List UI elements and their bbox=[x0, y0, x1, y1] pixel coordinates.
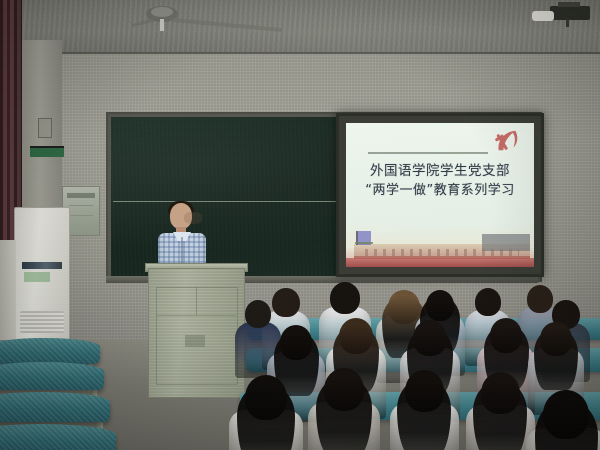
slide-title-line1: 外国语学院学生党支部 bbox=[346, 161, 534, 181]
slide-gray-block bbox=[482, 234, 530, 251]
ac-brand-strip bbox=[22, 262, 62, 269]
student-head bbox=[330, 282, 360, 314]
presenter-head bbox=[170, 203, 192, 229]
desk-row-3 bbox=[0, 392, 110, 422]
student-head bbox=[475, 288, 501, 316]
desk-row-4 bbox=[0, 424, 116, 450]
student-front-row-4 bbox=[481, 372, 520, 450]
student-front-row-2 bbox=[324, 368, 364, 450]
wall-ceiling-seam bbox=[0, 52, 600, 54]
student-long-hair bbox=[534, 328, 577, 390]
air-conditioner-unit bbox=[14, 207, 70, 342]
ac-vent-grille bbox=[20, 311, 64, 333]
slide-divider-rule bbox=[368, 152, 488, 154]
student-front-row-1 bbox=[245, 375, 287, 450]
podium-marking bbox=[185, 335, 205, 347]
desk-row-1 bbox=[0, 338, 100, 364]
green-wall-sign bbox=[30, 146, 64, 157]
ac-sticker bbox=[24, 272, 50, 282]
student-front-row-5 bbox=[543, 390, 589, 450]
student-long-hair bbox=[473, 380, 527, 450]
student-long-hair bbox=[316, 376, 372, 450]
podium-panel-vertical-divider bbox=[196, 287, 197, 315]
slide-title-line2: “两学一做”教育系列学习 bbox=[346, 181, 534, 201]
classroom-photo: 外国语学院学生党支部 “两学一做”教育系列学习 Tiananmen gate i… bbox=[0, 0, 600, 450]
student-head bbox=[527, 285, 553, 313]
podium-panel-divider bbox=[156, 315, 236, 316]
podium-panel bbox=[156, 287, 238, 385]
student-head bbox=[272, 288, 299, 317]
podium bbox=[148, 268, 245, 398]
student-front-row-3 bbox=[405, 370, 444, 450]
projector-icon bbox=[528, 2, 594, 34]
desk-row-2 bbox=[0, 362, 104, 390]
slide-art-red-band bbox=[346, 258, 534, 267]
student-long-hair bbox=[397, 378, 451, 450]
projection-screen: 外国语学院学生党支部 “两学一做”教育系列学习 Tiananmen gate i… bbox=[336, 113, 544, 277]
presentation-slide: 外国语学院学生党支部 “两学一做”教育系列学习 Tiananmen gate i… bbox=[346, 123, 534, 267]
slide-title-block: 外国语学院学生党支部 “两学一做”教育系列学习 bbox=[346, 161, 534, 201]
presenter-face bbox=[184, 212, 202, 224]
ac-side-panel bbox=[0, 240, 16, 340]
student-head bbox=[245, 300, 271, 328]
wall-switch-icon[interactable] bbox=[38, 118, 52, 138]
student-long-hair bbox=[237, 383, 295, 450]
hammer-and-sickle-icon bbox=[493, 128, 523, 154]
ceiling-fan-icon bbox=[132, 2, 322, 42]
slide-flag-icon bbox=[356, 231, 371, 245]
